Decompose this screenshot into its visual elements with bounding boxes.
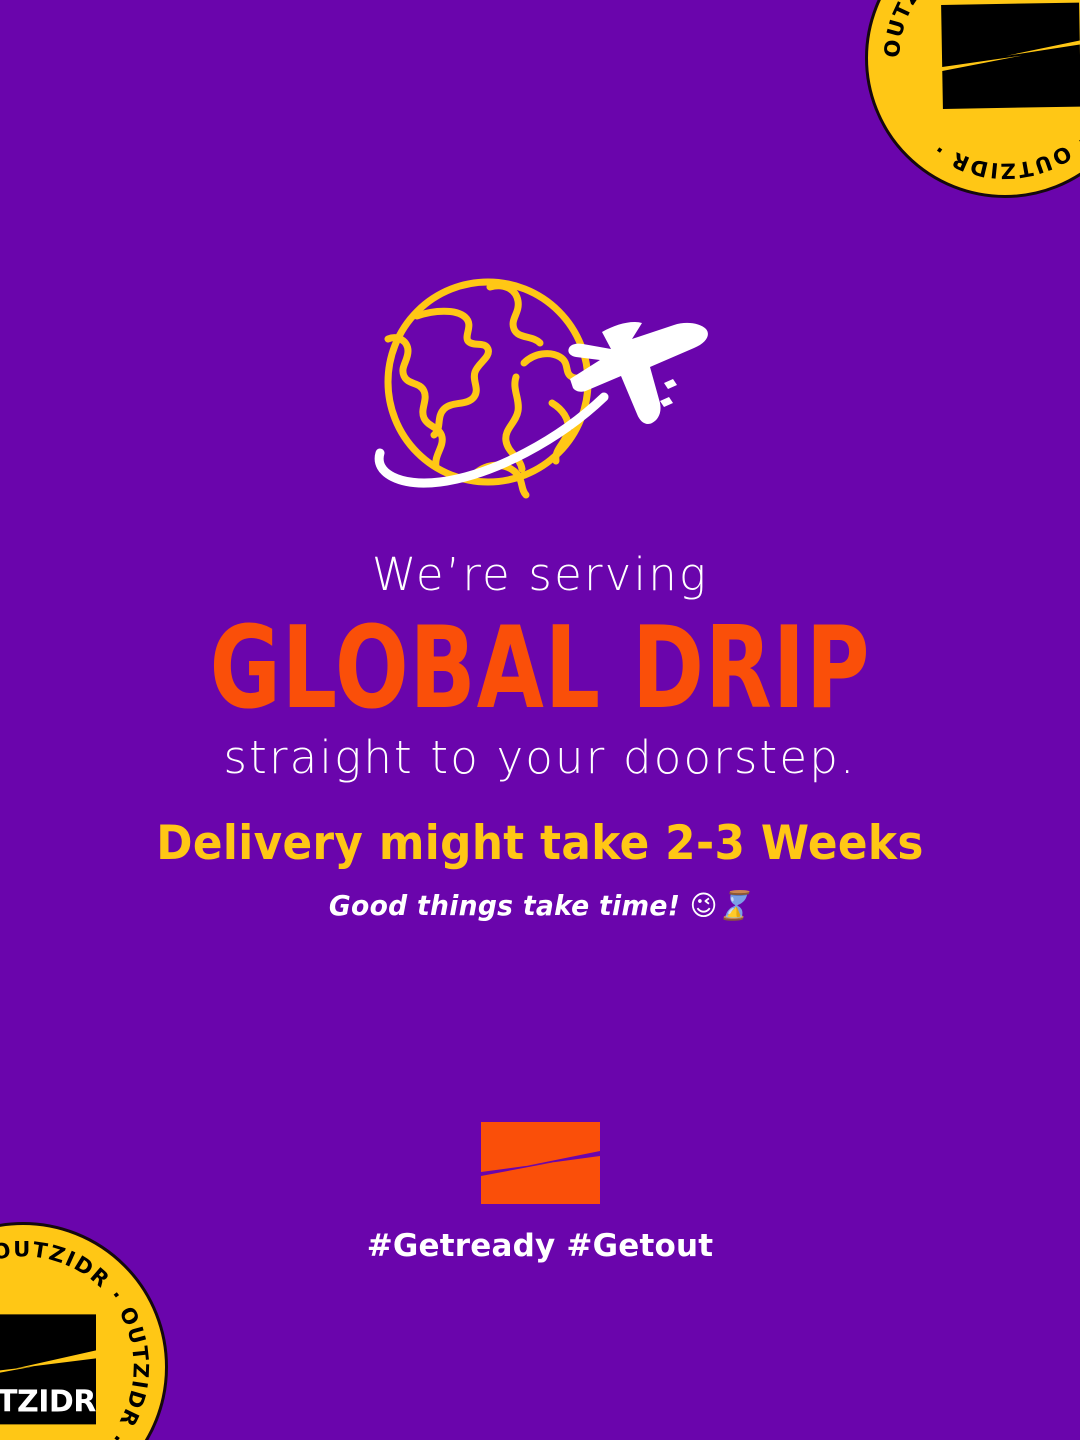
outzidr-z-logo-icon xyxy=(479,1120,602,1206)
delivery-notice-text: Delivery might take 2-3 Weeks xyxy=(38,818,1042,870)
promo-poster: OUTZIDR · OUTZIDR · OUTZIDR · OUTZIDR · xyxy=(0,0,1080,1440)
subline-text: straight to your doorstep. xyxy=(0,731,1080,784)
seal-top-right-badge: OUTZIDR · OUTZIDR · OUTZIDR · OUTZIDR · xyxy=(865,0,1080,198)
seal-bottom-left-badge: OUTZIDR · OUTZIDR · OUTZIDR · OUTZIDR · … xyxy=(0,1222,168,1440)
headline-text: GLOBAL DRIP xyxy=(76,609,1005,728)
seal-mark-wordmark: OUTZIDR xyxy=(0,1384,96,1419)
seal-z-mark-bottom-left: OUTZIDR xyxy=(0,1310,102,1428)
delivery-subnote-text: Good things take time! 😉⌛ xyxy=(27,889,1053,923)
seal-z-mark-top-right xyxy=(935,0,1080,113)
headline-copy-block: We’re serving GLOBAL DRIP straight to yo… xyxy=(0,548,1080,784)
globe-with-airplane-icon xyxy=(364,277,716,509)
eyebrow-text: We’re serving xyxy=(0,548,1080,601)
delivery-notice-block: Delivery might take 2-3 Weeks Good thing… xyxy=(0,818,1080,922)
